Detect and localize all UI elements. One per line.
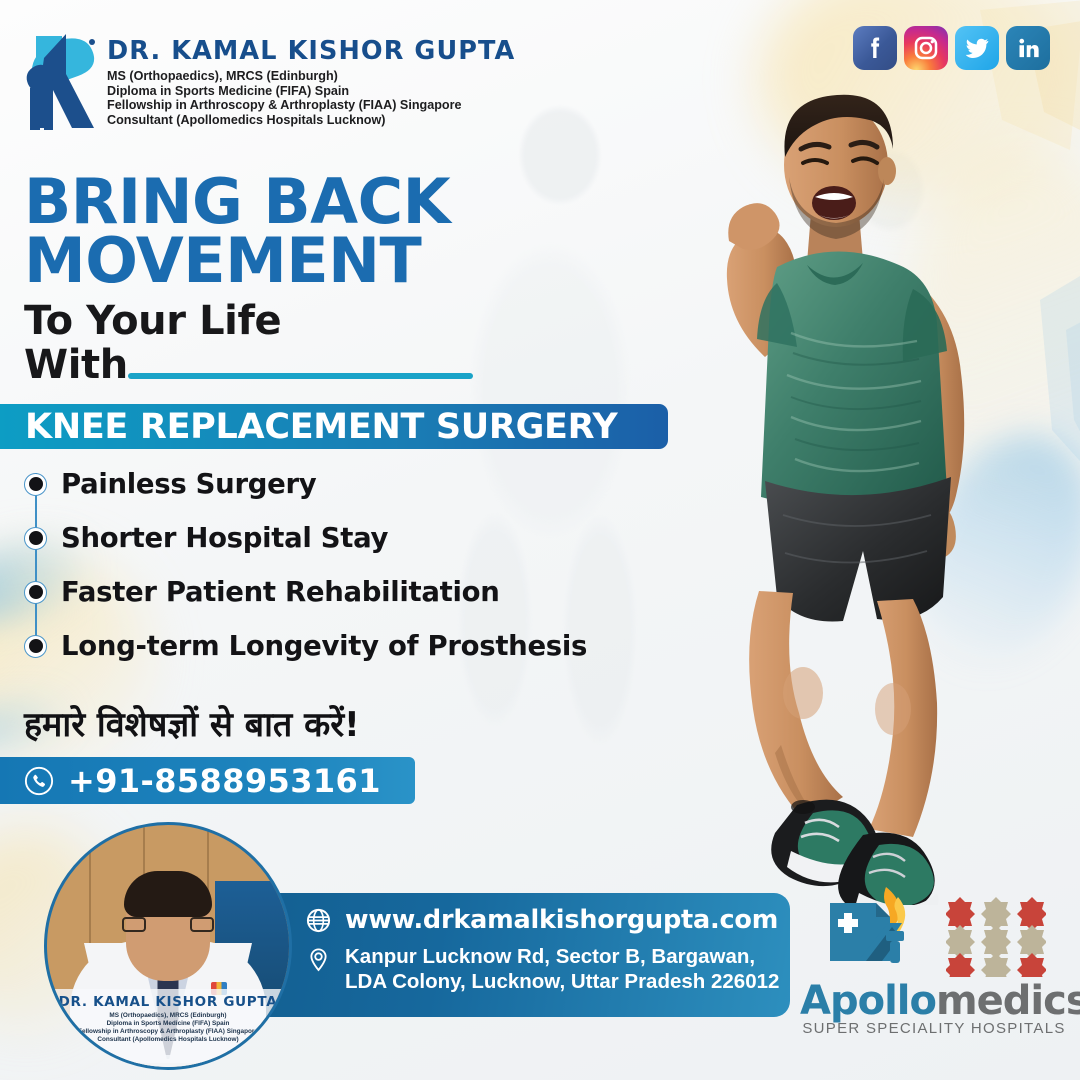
headline-line-1: BRING BACK	[24, 172, 724, 231]
portrait-glasses-left	[122, 917, 146, 932]
brand-credential: Fellowship in Arthroscopy & Arthroplasty…	[107, 98, 515, 113]
apollo-tagline: SUPER SPECIALITY HOSPITALS	[800, 1020, 1068, 1037]
list-item: Painless Surgery	[24, 457, 644, 511]
portrait-credential: MS (Orthopaedics), MRCS (Edinburgh)	[47, 1012, 289, 1020]
benefit-label: Faster Patient Rehabilitation	[61, 576, 500, 608]
bullet-dot-icon	[24, 635, 47, 658]
list-item: Faster Patient Rehabilitation	[24, 565, 644, 619]
portrait-name-banner: DR. KAMAL KISHOR GUPTA MS (Orthopaedics)…	[47, 989, 289, 1063]
phone-number: +91-8588953161	[68, 762, 381, 800]
address-line-1: Kanpur Lucknow Rd, Sector B, Bargawan,	[345, 944, 779, 969]
benefit-label: Painless Surgery	[61, 468, 316, 500]
headline-underline-rule	[128, 373, 473, 379]
location-pin-icon	[305, 946, 332, 973]
apollomedics-logo: Apollomedics SUPER SPECIALITY HOSPITALS	[800, 885, 1068, 1037]
knee-joint-k-logo-icon	[22, 28, 98, 132]
phone-cta-banner[interactable]: +91-8588953161	[0, 757, 415, 804]
bullet-dot-icon	[24, 581, 47, 604]
brand-credential: Consultant (Apollomedics Hospitals Luckn…	[107, 113, 515, 128]
headline-line-4: With	[24, 344, 128, 386]
twitter-icon[interactable]	[955, 26, 999, 70]
website-row[interactable]: www.drkamalkishorgupta.com	[305, 905, 795, 935]
phone-icon	[24, 766, 54, 796]
surgery-banner: KNEE REPLACEMENT SURGERY	[0, 404, 668, 449]
headline-line-3: To Your Life	[24, 299, 724, 344]
bullet-dot-icon	[24, 473, 47, 496]
brand-credential: MS (Orthopaedics), MRCS (Edinburgh)	[107, 69, 515, 84]
address-row: Kanpur Lucknow Rd, Sector B, Bargawan, L…	[305, 944, 795, 994]
portrait-hair	[124, 871, 212, 917]
portrait-credential: Diploma in Sports Medicine (FIFA) Spain	[47, 1020, 289, 1028]
brand-doctor-name: DR. KAMAL KISHOR GUPTA	[107, 36, 515, 66]
apollo-rosette-grid-icon	[946, 895, 1046, 977]
doctor-portrait: DR. KAMAL KISHOR GUPTA MS (Orthopaedics)…	[44, 822, 292, 1070]
website-url: www.drkamalkishorgupta.com	[345, 905, 778, 935]
footer-contact-info: www.drkamalkishorgupta.com Kanpur Luckno…	[305, 905, 795, 994]
globe-icon	[305, 907, 332, 934]
facebook-icon[interactable]	[853, 26, 897, 70]
benefit-label: Shorter Hospital Stay	[61, 522, 388, 554]
apollo-wordmark-part1: Apollo	[800, 978, 936, 1024]
hindi-cta-text: हमारे विशेषज्ञों से बात करें!	[24, 700, 360, 746]
headline-block: BRING BACK MOVEMENT To Your Life With	[24, 172, 724, 386]
headline-line-2: MOVEMENT	[24, 231, 724, 290]
benefits-list: Painless Surgery Shorter Hospital Stay F…	[24, 457, 644, 673]
list-item: Shorter Hospital Stay	[24, 511, 644, 565]
brand-credential: Diploma in Sports Medicine (FIFA) Spain	[107, 84, 515, 99]
list-item: Long-term Longevity of Prosthesis	[24, 619, 644, 673]
apollo-torch-icon	[822, 885, 938, 977]
portrait-glasses-right	[190, 917, 214, 932]
brand-header: DR. KAMAL KISHOR GUPTA MS (Orthopaedics)…	[22, 28, 515, 132]
apollo-wordmark-part2: medics	[936, 978, 1080, 1024]
bullet-dot-icon	[24, 527, 47, 550]
address-line-2: LDA Colony, Lucknow, Uttar Pradesh 22601…	[345, 969, 779, 994]
portrait-credential: Fellowship in Arthroscopy & Arthroplasty…	[47, 1028, 289, 1036]
linkedin-icon[interactable]	[1006, 26, 1050, 70]
surgery-banner-label: KNEE REPLACEMENT SURGERY	[0, 407, 617, 447]
portrait-credential: Consultant (Apollomedics Hospitals Luckn…	[47, 1036, 289, 1044]
portrait-doctor-name: DR. KAMAL KISHOR GUPTA	[47, 994, 289, 1010]
social-links	[853, 26, 1050, 70]
benefit-label: Long-term Longevity of Prosthesis	[61, 630, 587, 662]
instagram-icon[interactable]	[904, 26, 948, 70]
